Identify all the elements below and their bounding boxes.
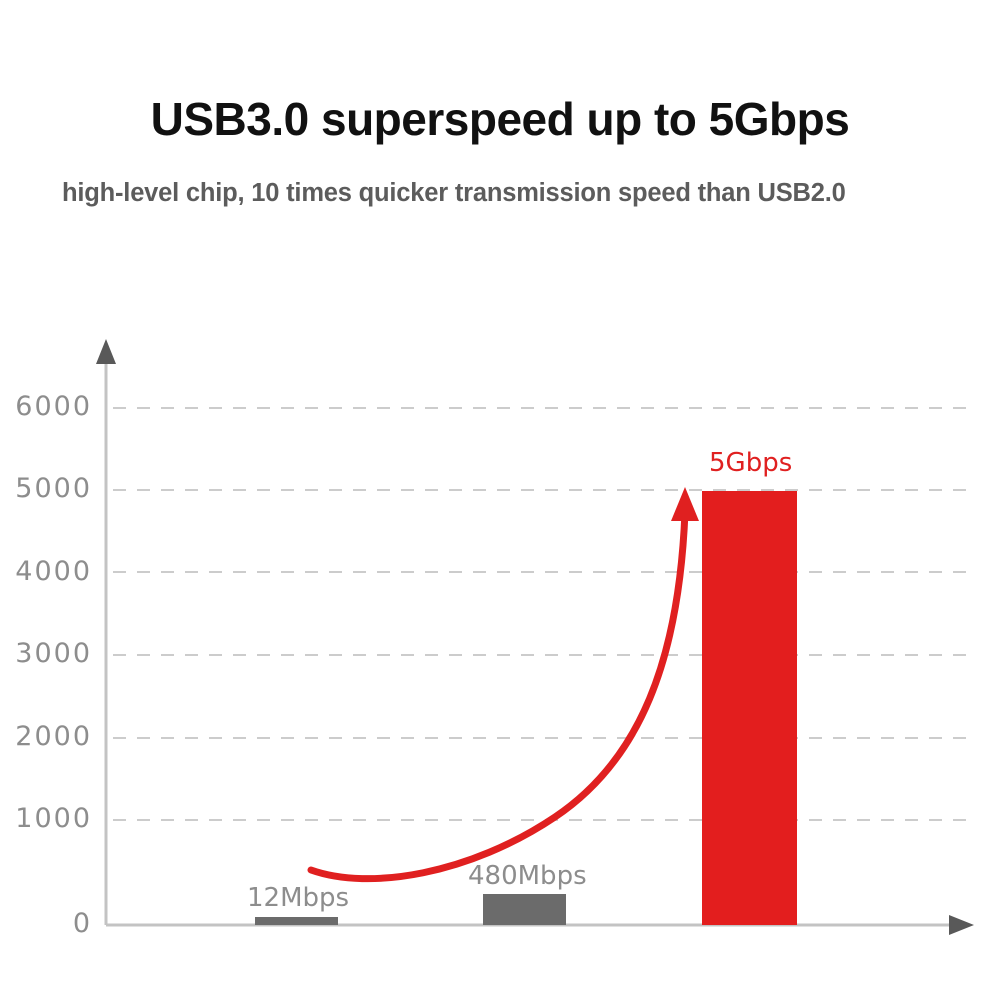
y-tick-label: 0 xyxy=(0,908,92,939)
y-tick-6000: 6000 xyxy=(0,391,92,425)
y-tick-2000: 2000 xyxy=(0,721,92,755)
y-tick-0: 0 xyxy=(0,908,92,942)
bar-usb3 xyxy=(702,491,797,925)
promo-banner-page: USB3.0 superspeed up to 5Gbps high-level… xyxy=(0,0,1000,1000)
y-tick-label: 5000 xyxy=(0,473,92,504)
y-tick-label: 4000 xyxy=(0,556,92,587)
y-tick-1000: 1000 xyxy=(0,803,92,837)
bar-usb1 xyxy=(255,917,338,925)
arrow-right-icon xyxy=(949,915,974,935)
y-tick-3000: 3000 xyxy=(0,638,92,672)
bar-label-usb2: 480Mbps xyxy=(468,861,587,891)
bar-usb2 xyxy=(483,894,566,925)
y-tick-label: 3000 xyxy=(0,638,92,669)
y-tick-label: 6000 xyxy=(0,391,92,422)
bar-label-usb3: 5Gbps xyxy=(709,448,792,478)
arrow-up-icon xyxy=(96,339,116,364)
y-tick-label: 1000 xyxy=(0,803,92,834)
curved-growth-arrow-icon xyxy=(311,512,685,879)
gridlines xyxy=(113,408,966,820)
y-tick-4000: 4000 xyxy=(0,556,92,590)
bar-chart: 6000 5000 4000 3000 2000 1000 0 12Mbps 4… xyxy=(0,0,1000,1000)
growth-arrow-head xyxy=(671,487,699,521)
y-tick-label: 2000 xyxy=(0,721,92,752)
bar-label-usb1: 12Mbps xyxy=(247,883,349,913)
chart-canvas xyxy=(0,0,1000,1000)
y-tick-5000: 5000 xyxy=(0,473,92,507)
